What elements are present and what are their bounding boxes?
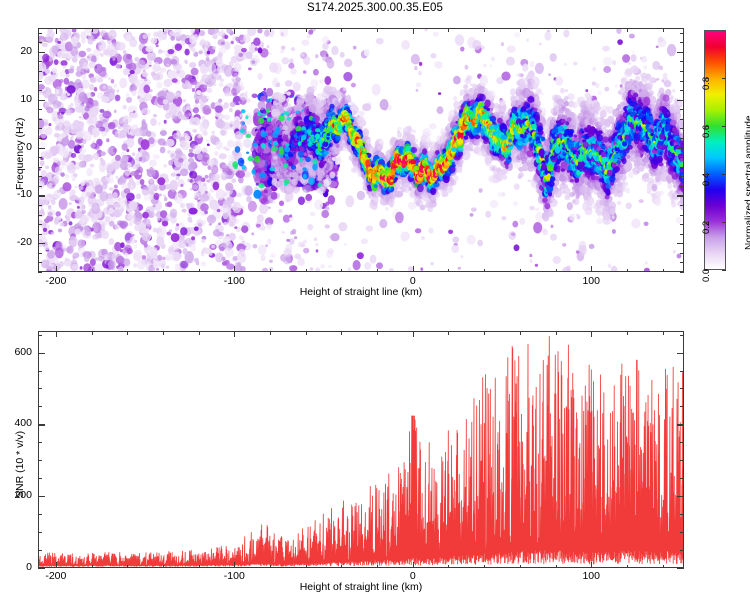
tick-mark: [680, 335, 684, 336]
tick-mark: [680, 138, 684, 139]
tick-mark: [680, 90, 684, 91]
tick-mark: [680, 109, 684, 110]
tick-mark: [680, 272, 684, 273]
spectrogram-y-tick: -10: [0, 188, 32, 200]
tick-mark: [677, 195, 684, 196]
tick-mark: [38, 243, 45, 244]
tick-mark: [677, 568, 684, 569]
tick-mark: [663, 28, 664, 32]
tick-mark: [377, 28, 378, 32]
tick-mark: [270, 269, 271, 273]
tick-mark: [38, 234, 42, 235]
tick-mark: [448, 28, 449, 32]
figure-title: S174.2025.300.00.35.E05: [0, 2, 750, 14]
spectrogram-plot-area: [38, 28, 684, 272]
tick-mark: [92, 28, 93, 32]
tick-mark: [680, 119, 684, 120]
tick-mark: [704, 222, 708, 223]
tick-mark: [484, 565, 485, 569]
tick-mark: [38, 71, 42, 72]
tick-mark: [680, 514, 684, 515]
tick-mark: [627, 269, 628, 273]
tick-mark: [38, 568, 45, 569]
tick-mark: [591, 331, 592, 337]
tick-mark: [38, 335, 42, 336]
spectrogram-y-tick: 10: [0, 93, 32, 105]
tick-mark: [306, 565, 307, 569]
tick-mark: [163, 331, 164, 335]
tick-mark: [234, 28, 235, 34]
tick-mark: [663, 565, 664, 569]
tick-mark: [38, 148, 45, 149]
tick-mark: [704, 78, 708, 79]
tick-mark: [520, 331, 521, 335]
tick-mark: [306, 269, 307, 273]
tick-mark: [722, 126, 726, 127]
tick-mark: [680, 550, 684, 551]
tick-mark: [677, 424, 684, 425]
tick-mark: [38, 205, 42, 206]
tick-mark: [680, 478, 684, 479]
tick-mark: [680, 388, 684, 389]
tick-mark: [234, 266, 235, 272]
tick-mark: [722, 78, 726, 79]
tick-mark: [341, 565, 342, 569]
spectrogram-y-tick: -20: [0, 236, 32, 248]
tick-mark: [591, 266, 592, 272]
tick-mark: [127, 331, 128, 335]
tick-mark: [627, 28, 628, 32]
tick-mark: [56, 331, 57, 337]
tick-mark: [680, 224, 684, 225]
tick-mark: [680, 460, 684, 461]
snr-x-tick: 100: [561, 570, 621, 582]
tick-mark: [341, 28, 342, 32]
tick-mark: [722, 174, 726, 175]
tick-mark: [722, 222, 726, 223]
tick-mark: [38, 550, 42, 551]
tick-mark: [677, 52, 684, 53]
tick-mark: [704, 174, 708, 175]
tick-mark: [38, 100, 45, 101]
tick-mark: [680, 442, 684, 443]
tick-mark: [38, 186, 42, 187]
tick-mark: [680, 262, 684, 263]
tick-mark: [627, 331, 628, 335]
tick-mark: [680, 81, 684, 82]
tick-mark: [680, 215, 684, 216]
tick-mark: [341, 331, 342, 335]
tick-mark: [38, 128, 42, 129]
tick-mark: [270, 331, 271, 335]
tick-mark: [270, 28, 271, 32]
tick-mark: [341, 269, 342, 273]
snr-y-tick: 400: [0, 417, 32, 429]
tick-mark: [38, 195, 45, 196]
tick-mark: [38, 272, 42, 273]
tick-mark: [663, 269, 664, 273]
tick-mark: [377, 269, 378, 273]
tick-mark: [680, 532, 684, 533]
tick-mark: [38, 388, 42, 389]
tick-mark: [38, 90, 42, 91]
tick-mark: [680, 253, 684, 254]
tick-mark: [56, 562, 57, 568]
tick-mark: [199, 28, 200, 32]
tick-mark: [127, 28, 128, 32]
tick-mark: [680, 167, 684, 168]
tick-mark: [663, 331, 664, 335]
tick-mark: [38, 496, 45, 497]
tick-mark: [38, 424, 45, 425]
tick-mark: [680, 71, 684, 72]
tick-mark: [677, 353, 684, 354]
tick-mark: [627, 565, 628, 569]
tick-mark: [38, 371, 42, 372]
tick-mark: [680, 33, 684, 34]
snr-x-tick: -200: [26, 570, 86, 582]
snr-y-tick: 600: [0, 346, 32, 358]
tick-mark: [556, 565, 557, 569]
tick-mark: [680, 157, 684, 158]
tick-mark: [38, 119, 42, 120]
tick-mark: [199, 565, 200, 569]
tick-mark: [92, 331, 93, 335]
tick-mark: [92, 565, 93, 569]
tick-mark: [677, 243, 684, 244]
tick-mark: [38, 215, 42, 216]
snr-x-axis-label: Height of straight line (km): [211, 581, 511, 593]
tick-mark: [680, 176, 684, 177]
spectrogram-x-tick: 100: [561, 275, 621, 287]
tick-mark: [680, 128, 684, 129]
tick-mark: [722, 270, 726, 271]
tick-mark: [38, 157, 42, 158]
snr-canvas: [39, 332, 683, 567]
tick-mark: [704, 126, 708, 127]
tick-mark: [38, 406, 42, 407]
tick-mark: [92, 269, 93, 273]
tick-mark: [484, 269, 485, 273]
tick-mark: [520, 565, 521, 569]
tick-mark: [38, 33, 42, 34]
tick-mark: [199, 269, 200, 273]
tick-mark: [680, 205, 684, 206]
tick-mark: [377, 565, 378, 569]
tick-mark: [38, 253, 42, 254]
tick-mark: [38, 109, 42, 110]
tick-mark: [677, 496, 684, 497]
tick-mark: [680, 371, 684, 372]
tick-mark: [163, 28, 164, 32]
tick-mark: [680, 61, 684, 62]
tick-mark: [556, 269, 557, 273]
tick-mark: [38, 42, 42, 43]
tick-mark: [306, 331, 307, 335]
spectrogram-y-axis-label: Frequency (Hz): [14, 118, 26, 190]
tick-mark: [677, 100, 684, 101]
tick-mark: [38, 224, 42, 225]
tick-mark: [38, 81, 42, 82]
spectrogram-x-tick: -200: [26, 275, 86, 287]
tick-mark: [127, 269, 128, 273]
tick-mark: [270, 565, 271, 569]
tick-mark: [448, 565, 449, 569]
tick-mark: [38, 61, 42, 62]
tick-mark: [306, 28, 307, 32]
tick-mark: [704, 270, 708, 271]
tick-mark: [38, 176, 42, 177]
tick-mark: [38, 460, 42, 461]
figure-root: S174.2025.300.00.35.E05 -20-1001020 -200…: [0, 0, 750, 600]
colorbar-label: Normalized spectral amplitude: [744, 115, 750, 250]
colorbar: [704, 30, 726, 270]
tick-mark: [680, 42, 684, 43]
tick-mark: [520, 28, 521, 32]
tick-mark: [680, 186, 684, 187]
tick-mark: [199, 331, 200, 335]
tick-mark: [591, 562, 592, 568]
tick-mark: [38, 167, 42, 168]
tick-mark: [448, 269, 449, 273]
tick-mark: [413, 28, 414, 34]
tick-mark: [520, 269, 521, 273]
snr-y-axis-label: SNR (10 * v/v): [14, 431, 26, 498]
tick-mark: [56, 266, 57, 272]
snr-plot-area: [38, 331, 684, 568]
tick-mark: [163, 269, 164, 273]
tick-mark: [484, 28, 485, 32]
tick-mark: [38, 262, 42, 263]
spectrogram-x-axis-label: Height of straight line (km): [211, 286, 511, 298]
tick-mark: [38, 514, 42, 515]
tick-mark: [556, 28, 557, 32]
tick-mark: [484, 331, 485, 335]
tick-mark: [38, 478, 42, 479]
tick-mark: [591, 28, 592, 34]
tick-mark: [38, 138, 42, 139]
tick-mark: [38, 442, 42, 443]
tick-mark: [56, 28, 57, 34]
tick-mark: [377, 331, 378, 335]
spectrogram-canvas: [39, 29, 683, 271]
tick-mark: [38, 52, 45, 53]
tick-mark: [680, 234, 684, 235]
tick-mark: [556, 331, 557, 335]
tick-mark: [413, 331, 414, 337]
tick-mark: [38, 532, 42, 533]
tick-mark: [127, 565, 128, 569]
tick-mark: [413, 266, 414, 272]
tick-mark: [163, 565, 164, 569]
tick-mark: [677, 148, 684, 149]
tick-mark: [38, 353, 45, 354]
tick-mark: [680, 406, 684, 407]
tick-mark: [413, 562, 414, 568]
spectrogram-y-tick: 20: [0, 45, 32, 57]
tick-mark: [234, 331, 235, 337]
tick-mark: [448, 331, 449, 335]
tick-mark: [234, 562, 235, 568]
